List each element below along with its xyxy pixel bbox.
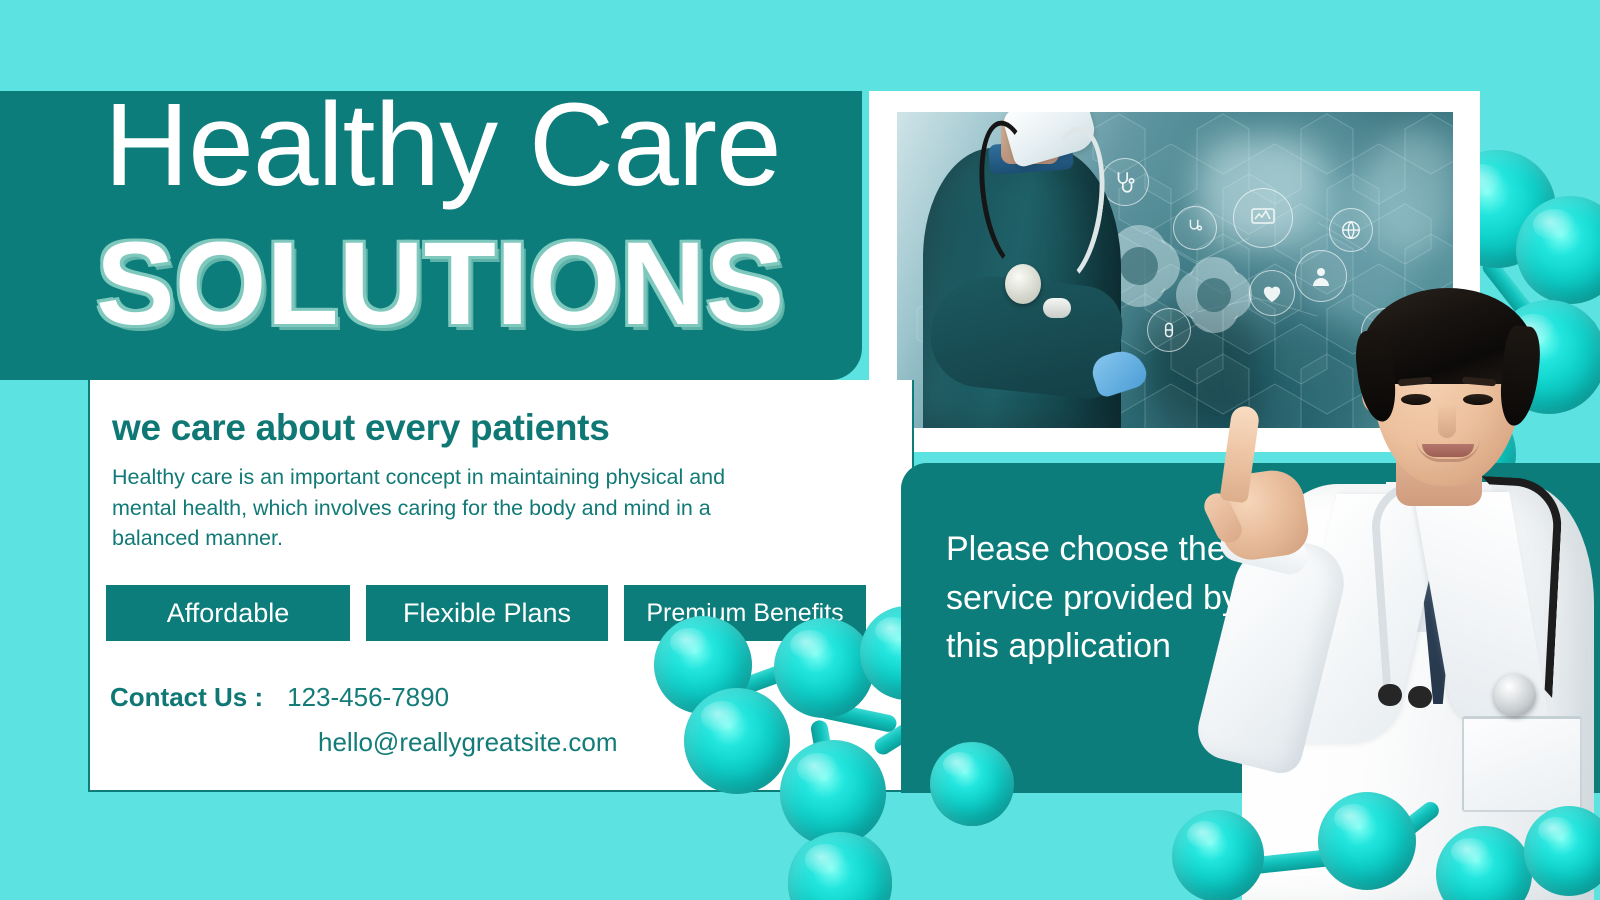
molecule-bond	[1245, 848, 1338, 875]
feature-pill-group: Affordable Flexible Plans Premium Benefi…	[106, 585, 866, 641]
feature-pill-flexible-plans[interactable]: Flexible Plans	[366, 585, 608, 641]
contact-block: Contact Us : 123-456-7890 hello@reallygr…	[110, 682, 618, 758]
page-title-line1: Healthy Care	[104, 85, 781, 205]
contact-phone-value[interactable]: 123-456-7890	[287, 682, 449, 713]
molecule-atom	[788, 832, 892, 900]
globe-network-icon	[1329, 208, 1373, 252]
heart-icon	[1249, 270, 1295, 316]
molecule-bond	[1527, 317, 1599, 357]
molecule-atom	[788, 830, 892, 900]
molecule-atom	[1318, 792, 1416, 890]
user-profile-icon	[1295, 250, 1347, 302]
info-card: we care about every patients Healthy car…	[88, 380, 914, 792]
card-subheading: we care about every patients	[112, 407, 609, 449]
molecule-bond	[1245, 843, 1342, 873]
callout-text: Please choose the service provided by th…	[946, 525, 1276, 671]
card-body-text: Healthy care is an important concept in …	[112, 462, 792, 554]
poster-canvas: Healthy Care SOLUTIONS we care about eve…	[0, 0, 1600, 900]
feature-pill-premium-benefits[interactable]: Premium Benefits	[624, 585, 866, 641]
stethoscope-chestpiece	[1005, 264, 1041, 304]
molecule-atom	[1436, 826, 1532, 900]
doctor-hair-sideburn-right	[1497, 324, 1543, 427]
molecule-atom	[1516, 196, 1600, 304]
doctor-ear-right	[1510, 378, 1532, 412]
feature-pill-affordable[interactable]: Affordable	[106, 585, 350, 641]
header-banner: Healthy Care SOLUTIONS	[0, 91, 862, 380]
shield-icon	[1361, 308, 1409, 356]
surgeon-figure	[897, 112, 1197, 428]
chart-monitor-icon	[1233, 188, 1293, 248]
molecule-atom	[1492, 300, 1600, 414]
service-callout-box: Please choose the service provided by th…	[901, 463, 1600, 793]
hero-photo-frame	[869, 91, 1480, 452]
surgeon-photo	[897, 112, 1453, 428]
contact-email-value[interactable]: hello@reallygreatsite.com	[318, 727, 618, 758]
contact-label: Contact Us :	[110, 682, 263, 713]
stethoscope-bell	[1043, 298, 1071, 318]
molecule-bond	[1367, 796, 1445, 859]
molecule-bond	[1479, 255, 1540, 327]
molecule-bond	[1369, 799, 1443, 862]
contact-phone-row: Contact Us : 123-456-7890	[110, 682, 618, 713]
page-title-line2: SOLUTIONS	[96, 225, 784, 343]
molecule-atom	[1524, 806, 1600, 896]
molecule-atom	[1172, 810, 1264, 900]
